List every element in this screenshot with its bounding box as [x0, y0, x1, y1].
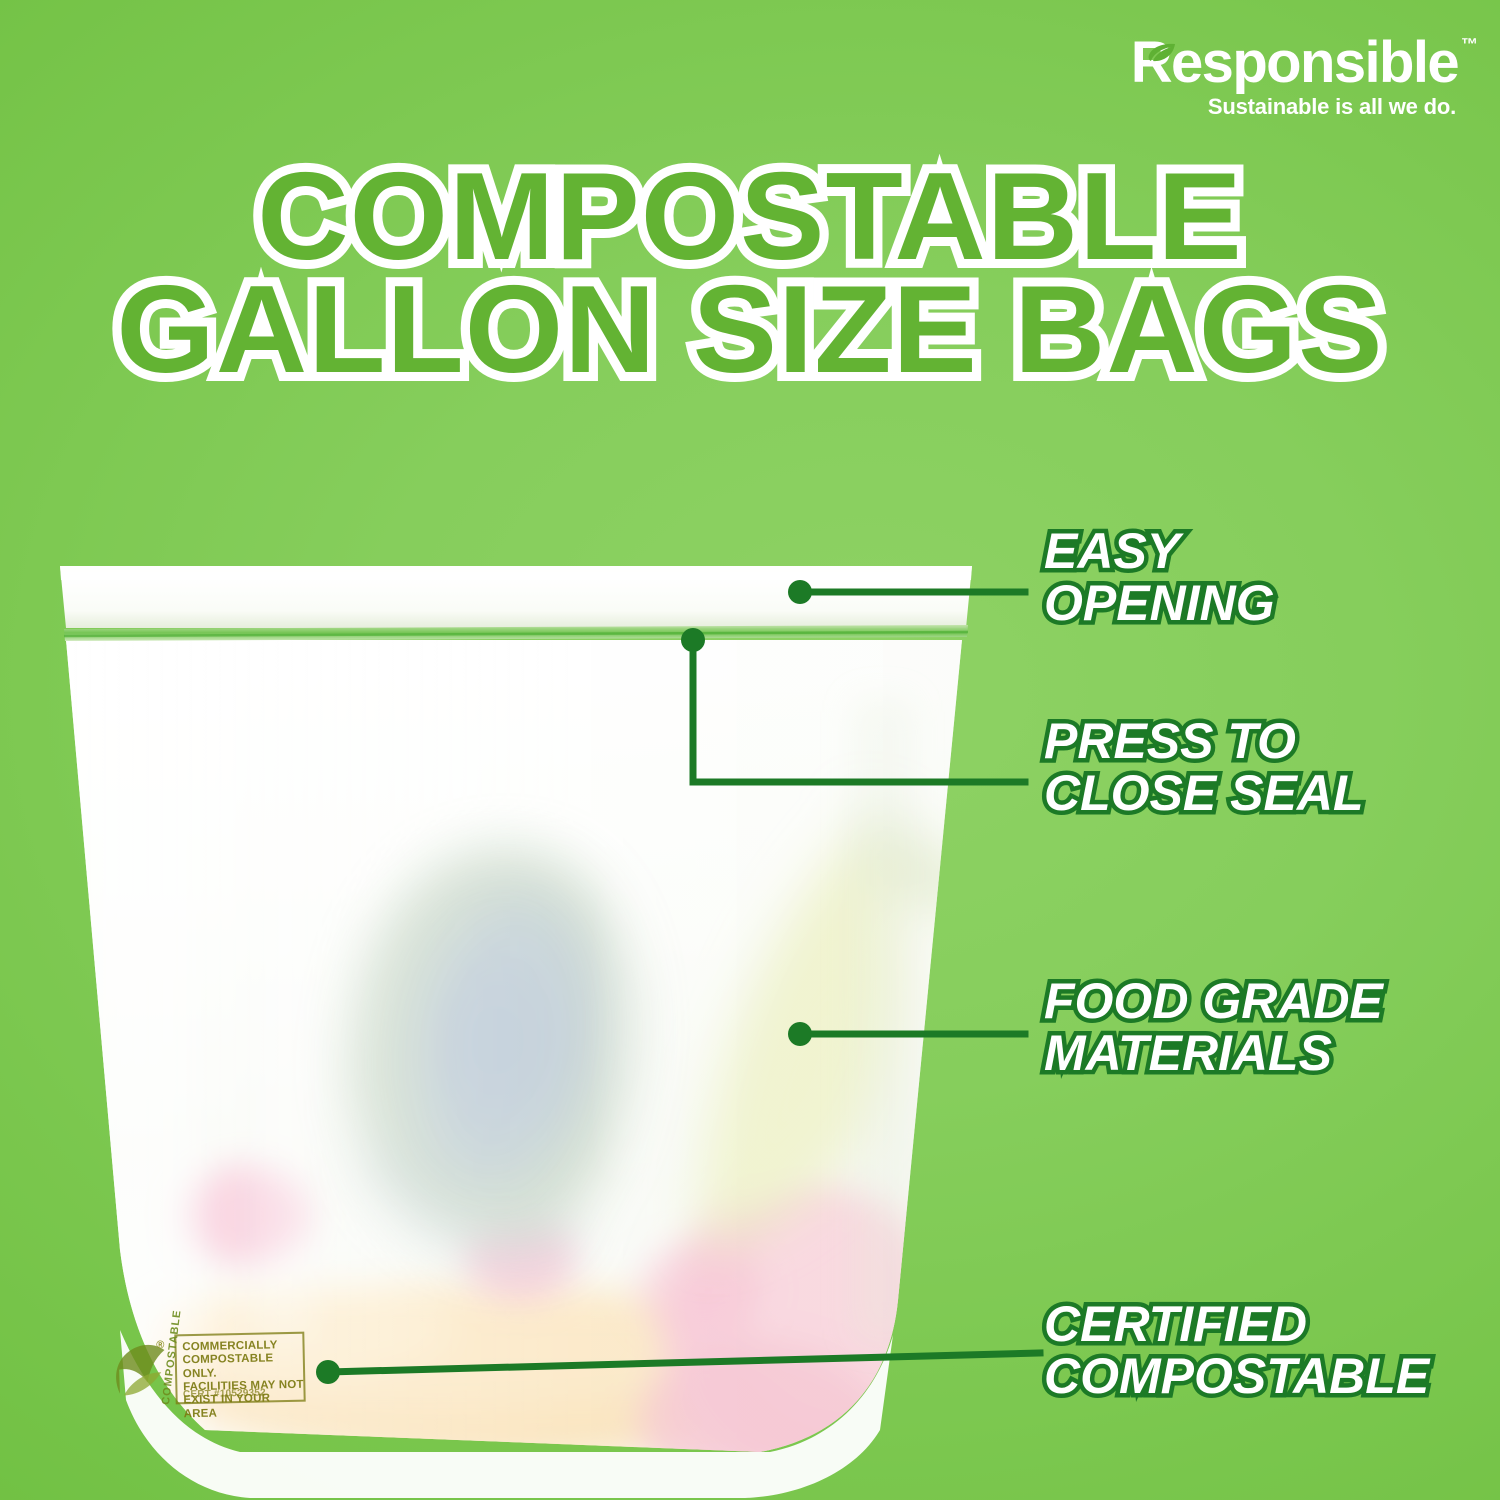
bag-lip-fold — [60, 566, 972, 580]
svg-text:®: ® — [156, 1339, 165, 1351]
callout-label-certified-compostable: CERTIFIED COMPOSTABLE — [1044, 1298, 1429, 1402]
headline-line-1: COMPOSTABLE — [0, 158, 1500, 277]
trademark-symbol: ™ — [1461, 36, 1478, 53]
callout-label-easy-opening: EASY OPENING — [1044, 525, 1275, 629]
brand-tagline: Sustainable is all we do. — [1131, 94, 1456, 120]
brand-name: Responsible — [1131, 30, 1458, 95]
brand-name-wrap: Responsible ™ — [1131, 34, 1458, 92]
callout-label-press-to-close-seal: PRESS TO CLOSE SEAL — [1044, 715, 1363, 819]
page-title: COMPOSTABLE GALLON SIZE BAGS — [0, 158, 1500, 390]
callout-label-food-grade-materials: FOOD GRADE MATERIALS — [1044, 975, 1383, 1079]
compost-notice-text: COMMERCIALLY COMPOSTABLE ONLY. FACILITIE… — [182, 1339, 306, 1422]
headline-line-2: GALLON SIZE BAGS — [0, 271, 1500, 390]
brand-logo: Responsible ™ Sustainable is all we do. — [1131, 34, 1458, 120]
product-marketing-image: ® COMPOSTABLE COMMERCIALLY COMPOSTABLE O… — [0, 0, 1500, 1500]
